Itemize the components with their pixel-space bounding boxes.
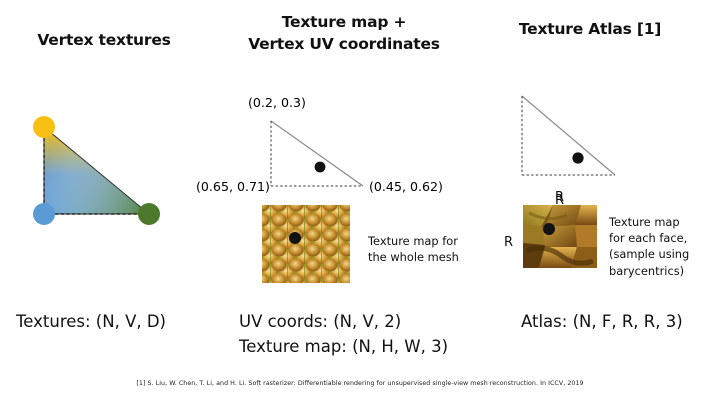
vertex-textures-figure bbox=[0, 100, 200, 240]
uv-sample-point-dot bbox=[315, 162, 326, 173]
uv-triangle-hypotenuse bbox=[271, 121, 363, 186]
caption-texture-map-whole-mesh: Texture map for the whole mesh bbox=[368, 233, 493, 265]
column-title-vertex-textures: Vertex textures bbox=[0, 29, 208, 51]
uv-coordinate-label-right: (0.45, 0.62) bbox=[369, 179, 443, 194]
shape-caption-uv-and-texture-map: UV coords: (N, V, 2) Texture map: (N, H,… bbox=[239, 309, 448, 359]
atlas-resolution-label-left: R bbox=[504, 235, 513, 250]
pineapple-skin-texture-svg bbox=[262, 205, 350, 283]
slide-canvas: Vertex textures Texture map + Vertex UV … bbox=[0, 0, 720, 405]
column-title-texture-map-uv: Texture map + Vertex UV coordinates bbox=[208, 11, 480, 56]
vertex-dot-bottom-right bbox=[138, 203, 160, 225]
vertex-colour-triangle bbox=[44, 127, 149, 214]
pineapple-skin-texture-image bbox=[262, 205, 350, 283]
pineapple-face-texture-image bbox=[523, 205, 597, 268]
texture-sample-point-dot bbox=[289, 232, 301, 244]
atlas-triangle-hypotenuse bbox=[522, 96, 615, 175]
shape-caption-atlas: Atlas: (N, F, R, R, 3) bbox=[521, 309, 683, 334]
vertex-dot-bottom-left bbox=[33, 203, 55, 225]
caption-texture-map-each-face: Texture map for each face, (sample using… bbox=[609, 214, 720, 279]
shape-caption-textures: Textures: (N, V, D) bbox=[16, 309, 166, 334]
atlas-resolution-label-top: R bbox=[555, 193, 564, 208]
panel-vertex-textures bbox=[0, 100, 208, 240]
citation-footnote: [1] S. Liu, W. Chen, T. Li, and H. Li. S… bbox=[0, 380, 720, 387]
uv-coordinate-label-left: (0.65, 0.71) bbox=[196, 179, 270, 194]
vertex-dot-top bbox=[33, 116, 55, 138]
column-title-texture-atlas: Texture Atlas [1] bbox=[470, 18, 710, 40]
atlas-triangle-figure bbox=[480, 80, 680, 190]
pineapple-face-texture-svg bbox=[523, 205, 597, 268]
atlas-texture-sample-point-dot bbox=[543, 223, 555, 235]
atlas-sample-point-dot bbox=[572, 152, 583, 163]
uv-coordinate-label-top: (0.2, 0.3) bbox=[248, 95, 306, 110]
